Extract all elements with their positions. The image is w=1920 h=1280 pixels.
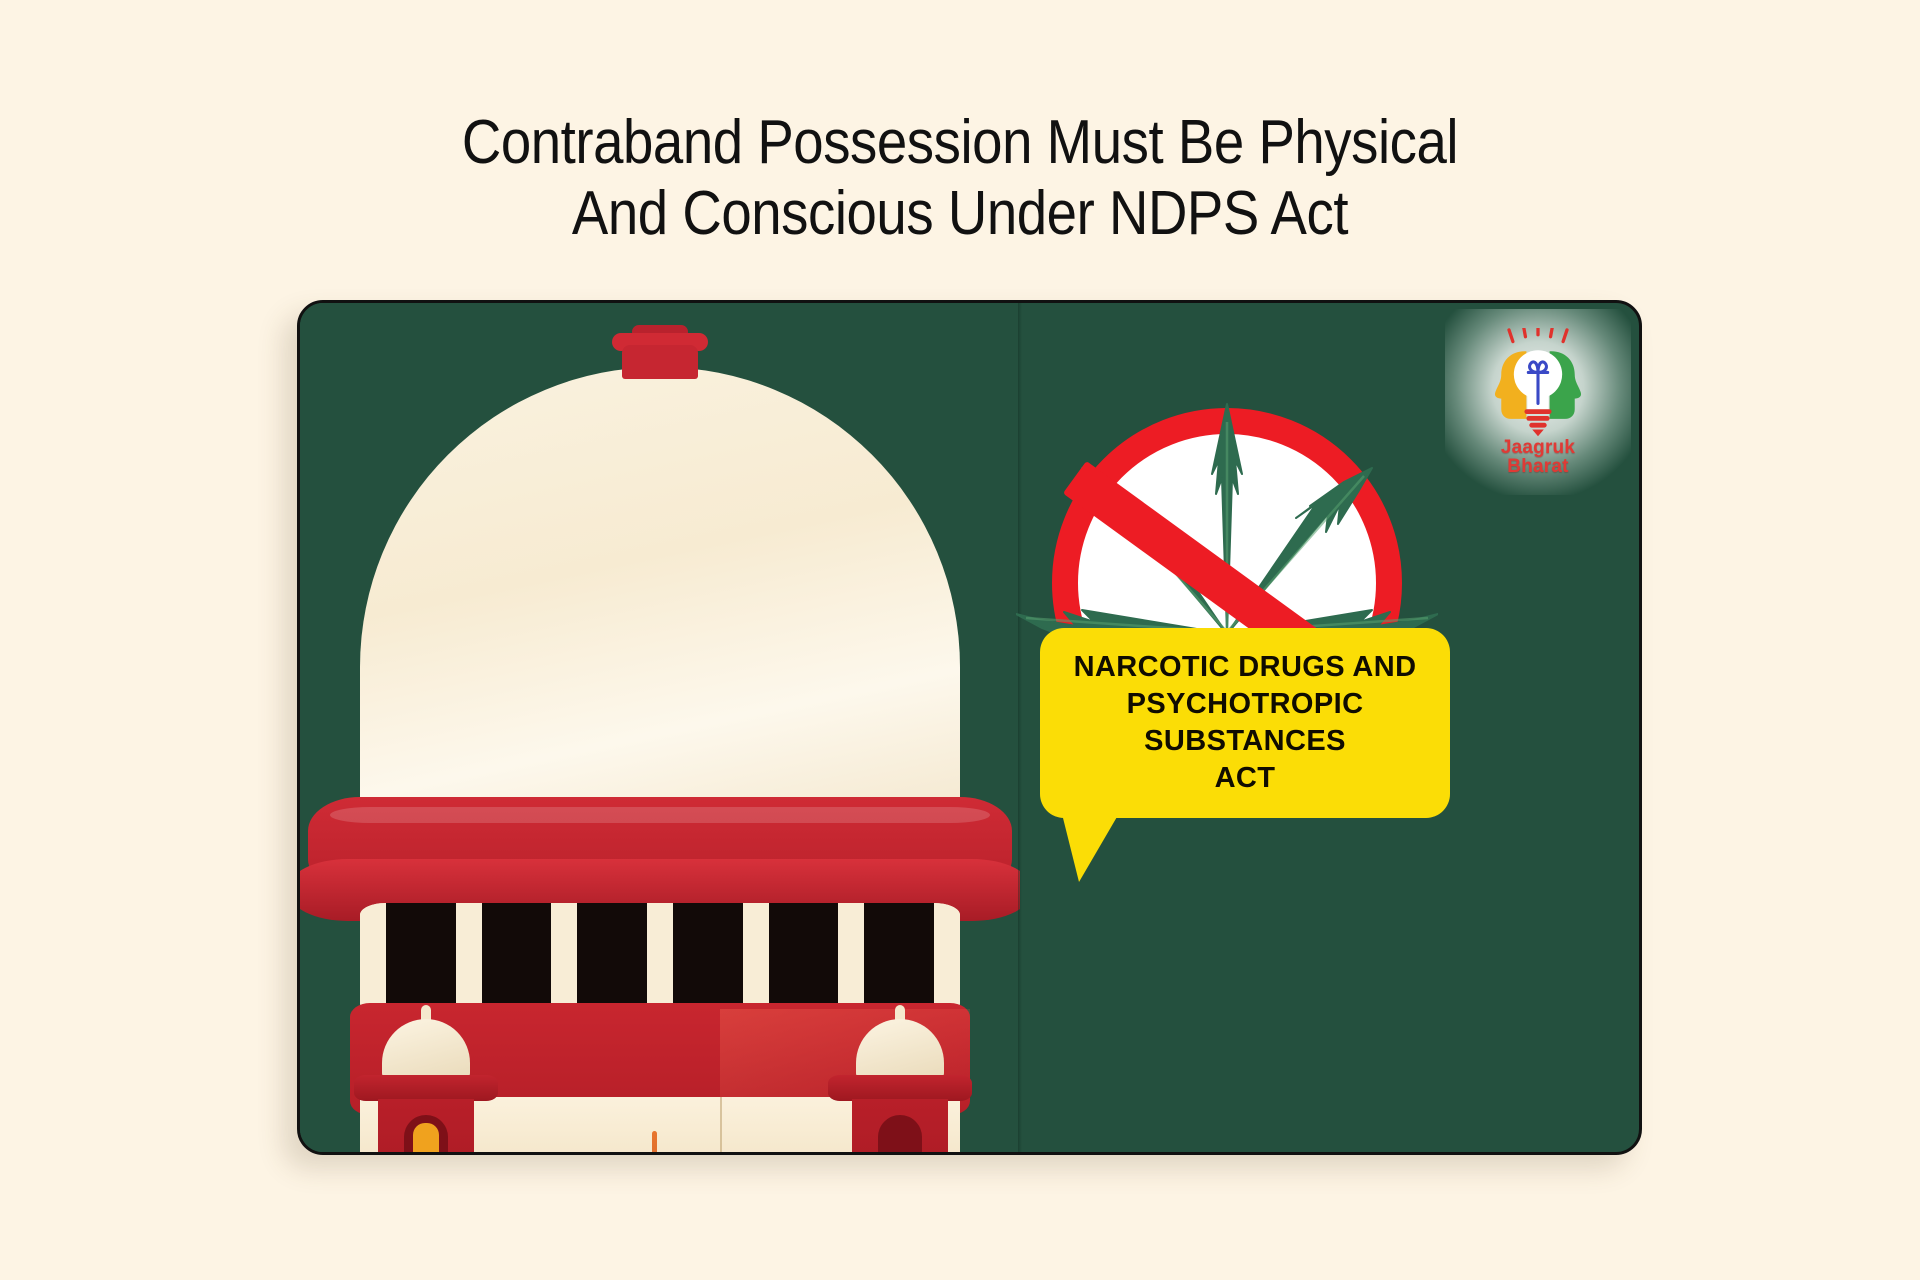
window [769, 903, 839, 1015]
window [482, 903, 552, 1015]
lightbulb-heads-icon [1480, 328, 1596, 444]
dome-finial-neck [622, 345, 698, 379]
ndps-bubble-text: NARCOTIC DRUGS AND PSYCHOTROPIC SUBSTANC… [1040, 649, 1450, 797]
chhatri-lamp [413, 1123, 439, 1152]
window [386, 903, 456, 1015]
logo-wordmark: Jaagruk Bharat [1501, 438, 1575, 476]
wall-seam [720, 1097, 722, 1152]
pier [647, 903, 673, 1015]
colonnade [360, 903, 960, 1015]
window [577, 903, 647, 1015]
cornice-highlight [330, 807, 990, 823]
supreme-court-illustration [300, 303, 1020, 1152]
pier [743, 903, 769, 1015]
ndps-speech-bubble: NARCOTIC DRUGS AND PSYCHOTROPIC SUBSTANC… [1040, 628, 1450, 818]
chhatri-roof [828, 1075, 972, 1101]
pier [934, 903, 960, 1015]
chhatri-arch [878, 1115, 922, 1152]
chhatri-roof [354, 1075, 498, 1101]
graphic-card: NARCOTIC DRUGS AND PSYCHOTROPIC SUBSTANC… [297, 300, 1642, 1155]
pier [838, 903, 864, 1015]
page-title: Contraband Possession Must Be Physical A… [115, 108, 1805, 249]
flag-pole [652, 1131, 657, 1152]
jaagruk-bharat-logo[interactable]: Jaagruk Bharat [1445, 309, 1631, 495]
window [673, 903, 743, 1015]
headline-line-1: Contraband Possession Must Be Physical [115, 108, 1805, 179]
poster-canvas: Contraband Possession Must Be Physical A… [0, 0, 1920, 1280]
pier [551, 903, 577, 1015]
window [864, 903, 934, 1015]
pier [456, 903, 482, 1015]
pier [360, 903, 386, 1015]
headline-line-2: And Conscious Under NDPS Act [115, 179, 1805, 250]
